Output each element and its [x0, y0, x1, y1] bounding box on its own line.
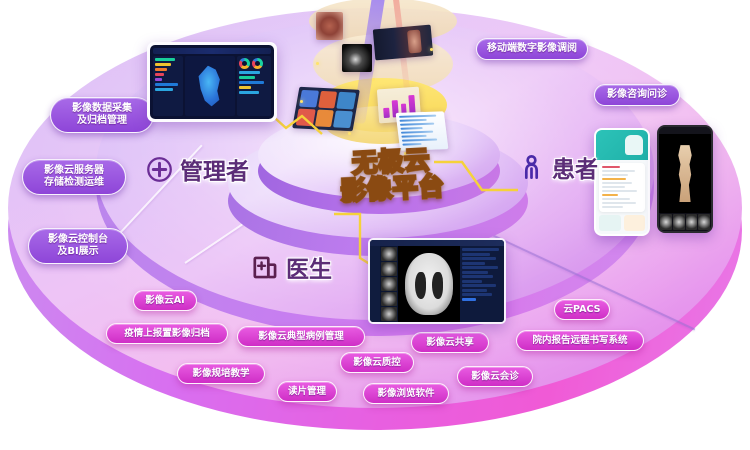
pill-image-cloud-consultation[interactable]: 影像云会诊 — [457, 366, 533, 387]
pill-line: 移动端数字影像调阅 — [487, 43, 577, 55]
pill-image-consultation[interactable]: 影像咨询问诊 — [594, 84, 680, 106]
hospital-document-icon — [252, 254, 279, 281]
pill-line: 疫情上报置影像归档 — [124, 328, 210, 339]
pill-line: 影像云典型病例管理 — [258, 331, 344, 342]
role-doctor-label: 医生 — [286, 250, 332, 284]
role-doctor[interactable]: 医生 — [252, 250, 332, 284]
patient-app-phone[interactable] — [594, 128, 650, 236]
bi-dashboard-screen[interactable] — [147, 42, 277, 122]
sparkle-icon — [372, 78, 375, 81]
imaging-app-phone[interactable] — [657, 125, 713, 233]
pill-line: 存储检测运维 — [44, 177, 104, 189]
pill-line: 及BI展示 — [48, 246, 108, 258]
pill-epidemic-report-archive[interactable]: 疫情上报置影像归档 — [106, 323, 228, 344]
pill-line: 影像规培教学 — [192, 368, 249, 379]
infographic-canvas: 无极云 影像平台 管理者 医生 患者 — [0, 0, 750, 450]
pill-image-browser-software[interactable]: 影像浏览软件 — [363, 383, 449, 404]
pill-typical-case-management[interactable]: 影像云典型病例管理 — [237, 326, 365, 347]
pill-line: 影像云服务器 — [44, 165, 104, 177]
pill-image-cloud-ai[interactable]: 影像云AI — [133, 290, 197, 311]
pill-image-data-collection[interactable]: 影像数据采集 及归档管理 — [50, 97, 154, 133]
pill-standardized-training[interactable]: 影像规培教学 — [177, 363, 265, 384]
pill-line: 影像云共享 — [426, 337, 474, 348]
ct-viewer-screen[interactable] — [368, 238, 506, 324]
circle-plus-icon — [146, 156, 173, 183]
ultrasound-thumbnail — [342, 44, 372, 72]
pill-line: 云PACS — [564, 304, 601, 315]
pill-line: 影像浏览软件 — [377, 388, 434, 399]
pill-line: 读片管理 — [288, 386, 326, 397]
pill-console-bi[interactable]: 影像云控制台 及BI展示 — [28, 228, 128, 264]
pill-cloud-pacs[interactable]: 云PACS — [554, 299, 610, 320]
pill-line: 影像云控制台 — [48, 234, 108, 246]
pill-line: 影像云会诊 — [471, 371, 519, 382]
pill-line: 影像云AI — [145, 295, 184, 306]
pill-mobile-image-retrieval[interactable]: 移动端数字影像调阅 — [476, 38, 588, 60]
pill-line: 影像咨询问诊 — [607, 89, 667, 101]
person-icon — [518, 154, 545, 181]
pill-quality-control[interactable]: 影像云质控 — [340, 352, 414, 373]
pill-line: 院内报告远程书写系统 — [532, 335, 627, 346]
endoscopy-thumbnail — [316, 12, 343, 40]
pill-image-cloud-sharing[interactable]: 影像云共享 — [411, 332, 489, 353]
sparkle-icon — [300, 100, 303, 103]
pill-remote-report-writing[interactable]: 院内报告远程书写系统 — [516, 330, 644, 351]
pill-line: 影像云质控 — [353, 357, 401, 368]
pill-reading-management[interactable]: 读片管理 — [277, 381, 337, 402]
sparkle-icon — [348, 132, 351, 135]
app-tiles-screen-thumbnail — [292, 87, 360, 132]
angiography-screen-thumbnail — [373, 25, 433, 61]
role-patient-label: 患者 — [552, 150, 598, 184]
role-patient[interactable]: 患者 — [518, 150, 598, 184]
platform-title: 无极云 影像平台 — [321, 144, 464, 205]
role-admin-label: 管理者 — [180, 152, 249, 186]
pill-line: 影像数据采集 — [72, 103, 132, 115]
role-admin[interactable]: 管理者 — [146, 152, 249, 186]
sparkle-icon — [430, 48, 433, 51]
pill-line: 及归档管理 — [72, 115, 132, 127]
pill-cloud-server-ops[interactable]: 影像云服务器 存储检测运维 — [22, 159, 126, 195]
sparkle-icon — [316, 62, 319, 65]
